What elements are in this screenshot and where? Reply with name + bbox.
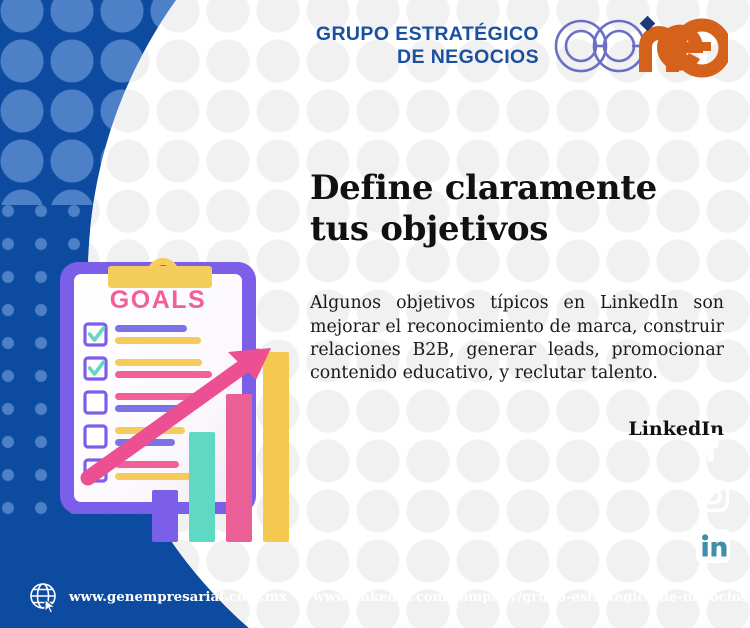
body-paragraph: Algunos objetivos típicos en LinkedIn so… [310, 292, 724, 385]
instagram-icon[interactable] [693, 476, 733, 516]
svg-text:GOALS: GOALS [110, 286, 206, 314]
brand-line-2: DE NEGOCIOS [316, 46, 539, 69]
bar-purple [152, 490, 178, 542]
headline-line-2: tus objetivos [310, 209, 730, 250]
social-post-canvas: GRUPO ESTRATÉGICO DE NEGOCIOS [0, 0, 750, 628]
gene-logo-icon [543, 12, 728, 80]
bar-teal [189, 432, 215, 542]
bar-yellow [263, 352, 289, 542]
linkedin-url: www.linkedin.com/company/grupo-estratégi… [313, 590, 748, 605]
brand-wordmark: GRUPO ESTRATÉGICO DE NEGOCIOS [316, 23, 539, 69]
social-links[interactable] [684, 426, 742, 566]
facebook-icon[interactable] [693, 426, 733, 466]
headline-line-1: Define claramente [310, 168, 730, 209]
page-title: Define claramente tus objetivos [310, 168, 730, 251]
bar-pink [226, 394, 252, 542]
clipboard-clip-bar [108, 266, 212, 288]
linkedin-profile-link[interactable]: www.linkedin.com/company/grupo-estratégi… [313, 588, 748, 606]
linkedin-icon[interactable] [693, 526, 733, 566]
brand-line-1: GRUPO ESTRATÉGICO [316, 23, 539, 46]
website-link[interactable]: www.genempresarial.com.mx [28, 581, 287, 613]
globe-cursor-icon [28, 581, 60, 613]
source-label: LinkedIn [310, 418, 724, 440]
goals-clipboard-illustration: GOALS [52, 252, 302, 542]
website-url: www.genempresarial.com.mx [69, 589, 287, 605]
footer-bar: www.genempresarial.com.mx www.linkedin.c… [0, 566, 750, 628]
brand-header: GRUPO ESTRATÉGICO DE NEGOCIOS [316, 12, 728, 80]
